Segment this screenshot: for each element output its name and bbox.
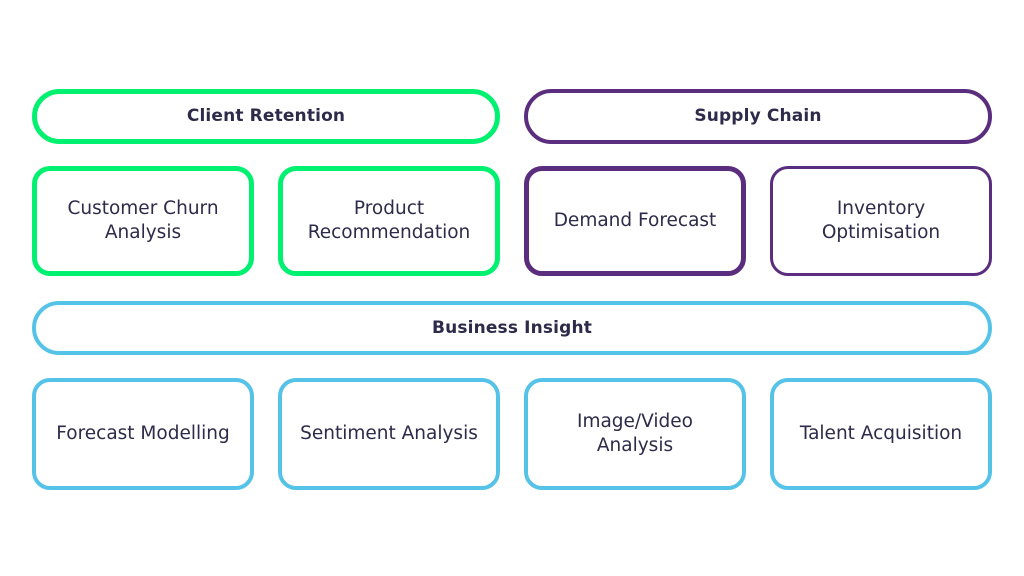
use-case-card-demand-forecast[interactable]: Demand Forecast (524, 166, 746, 276)
use-case-card-inventory-optimisation[interactable]: Inventory Optimisation (770, 166, 992, 276)
use-case-card-label: Talent Acquisition (782, 422, 980, 446)
use-case-card-forecast-modelling[interactable]: Forecast Modelling (32, 378, 254, 490)
use-case-card-label: Product Recommendation (291, 197, 487, 246)
group-header-business-insight[interactable]: Business Insight (32, 301, 992, 355)
use-case-card-product-recommendation[interactable]: Product Recommendation (278, 166, 500, 276)
use-case-card-label: Inventory Optimisation (781, 197, 981, 246)
use-case-card-image-video-analysis[interactable]: Image/Video Analysis (524, 378, 746, 490)
use-case-card-label: Image/Video Analysis (536, 410, 734, 459)
use-case-card-talent-acquisition[interactable]: Talent Acquisition (770, 378, 992, 490)
group-header-label: Business Insight (432, 318, 592, 338)
use-case-card-label: Customer Churn Analysis (45, 197, 241, 246)
group-header-supply-chain[interactable]: Supply Chain (524, 89, 992, 144)
use-case-card-sentiment-analysis[interactable]: Sentiment Analysis (278, 378, 500, 490)
use-case-card-customer-churn-analysis[interactable]: Customer Churn Analysis (32, 166, 254, 276)
use-case-card-label: Forecast Modelling (44, 422, 242, 446)
group-header-label: Supply Chain (694, 106, 821, 126)
group-header-client-retention[interactable]: Client Retention (32, 89, 500, 144)
use-case-card-label: Sentiment Analysis (290, 422, 488, 446)
use-case-card-label: Demand Forecast (537, 209, 733, 233)
diagram-canvas: Client Retention Supply Chain Customer C… (0, 0, 1024, 576)
group-header-label: Client Retention (187, 106, 345, 126)
